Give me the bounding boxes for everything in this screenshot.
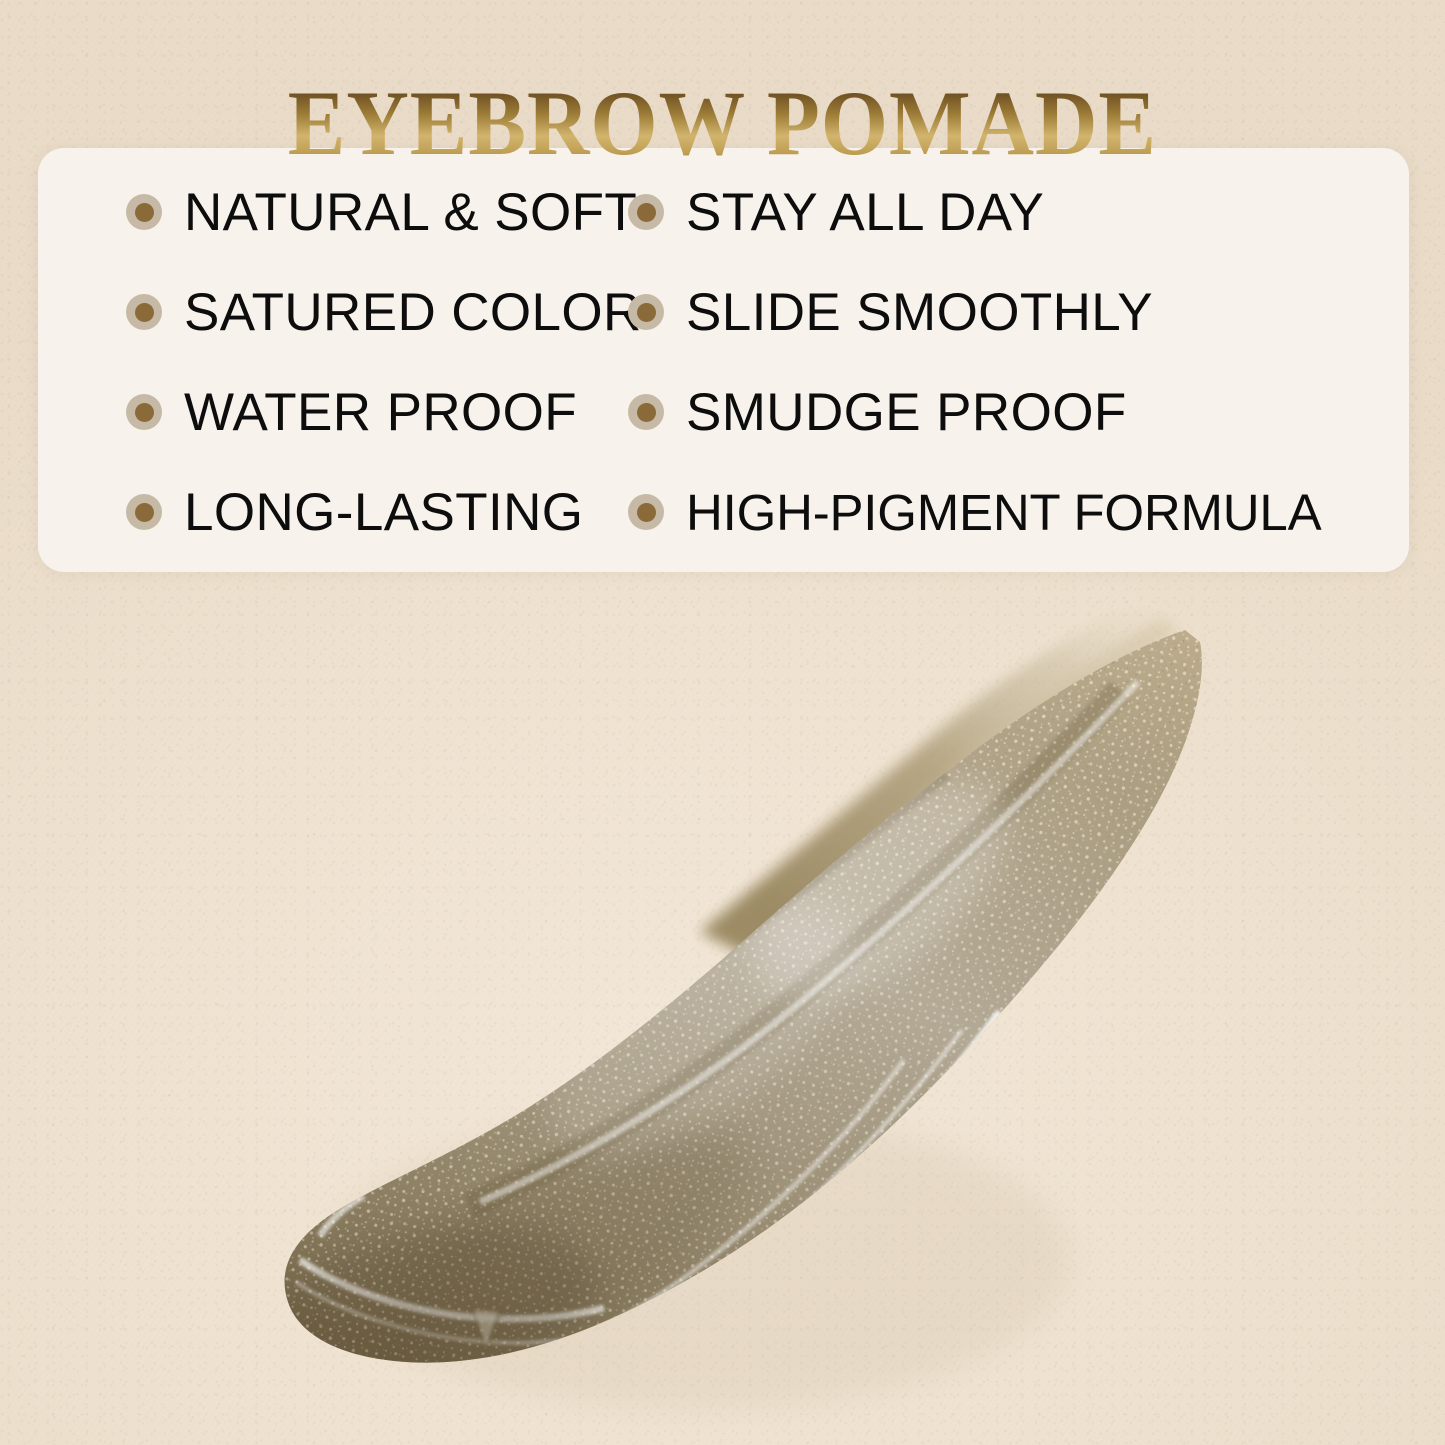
feature-label: HIGH-PIGMENT FORMULA xyxy=(686,487,1321,538)
feature-label: LONG-LASTING xyxy=(184,486,583,539)
product-swatch-image xyxy=(0,560,1445,1445)
bullet-dot-icon xyxy=(126,494,162,530)
feature-label: SMUDGE PROOF xyxy=(686,386,1127,439)
feature-item-slide-smoothly: SLIDE SMOOTHLY xyxy=(610,286,1409,339)
bullet-dot-icon xyxy=(628,494,664,530)
feature-item-smudge-proof: SMUDGE PROOF xyxy=(610,386,1409,439)
bullet-dot-icon xyxy=(126,394,162,430)
feature-label: SATURED COLOR xyxy=(184,286,642,339)
feature-item-water-proof: WATER PROOF xyxy=(38,386,610,439)
feature-item-satured-color: SATURED COLOR xyxy=(38,286,610,339)
feature-item-high-pigment-formula: HIGH-PIGMENT FORMULA xyxy=(610,487,1409,538)
feature-label: WATER PROOF xyxy=(184,386,577,439)
feature-label: SLIDE SMOOTHLY xyxy=(686,286,1153,339)
page-title: EYEBROW POMADE xyxy=(288,76,1157,172)
product-infographic: EYEBROW POMADE NATURAL & SOFT STAY ALL D… xyxy=(0,0,1445,1445)
pomade-smear-graphic xyxy=(0,560,1445,1445)
feature-item-long-lasting: LONG-LASTING xyxy=(38,486,610,539)
bullet-dot-icon xyxy=(628,394,664,430)
bullet-dot-icon xyxy=(628,294,664,330)
bullet-dot-icon xyxy=(126,294,162,330)
title-area: EYEBROW POMADE xyxy=(0,14,1445,233)
